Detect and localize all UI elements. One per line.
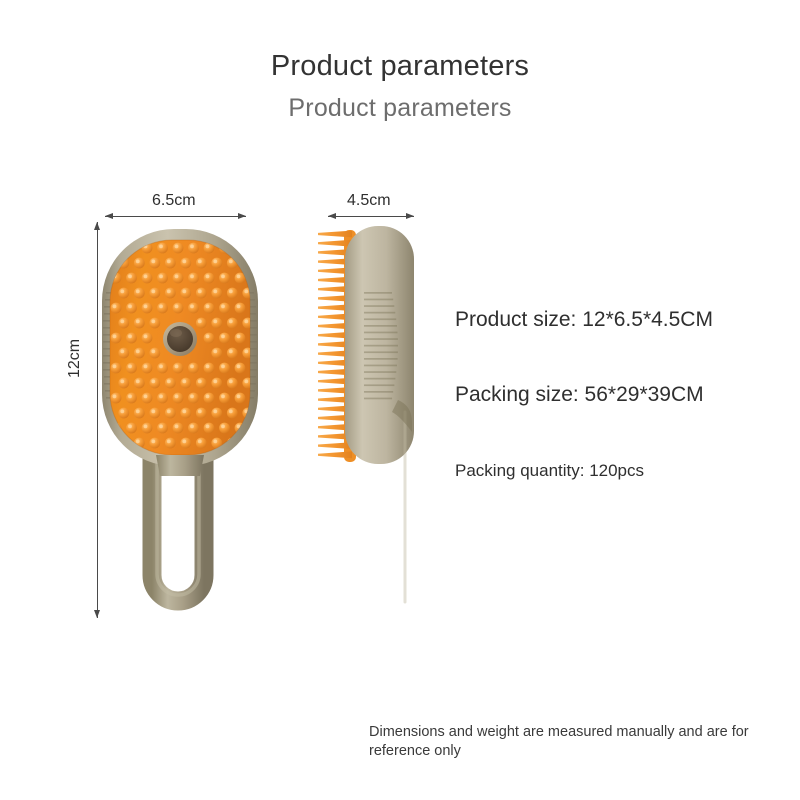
dimension-arrow-front-right xyxy=(238,213,246,219)
spec-packing-size: Packing size: 56*29*39CM xyxy=(455,383,704,407)
spec-product-size: Product size: 12*6.5*4.5CM xyxy=(455,308,713,332)
front-neck xyxy=(156,455,204,476)
product-parameters-diagram: Product parameters Product parameters xyxy=(0,0,800,800)
dimension-line-height xyxy=(97,222,98,618)
dimension-line-width-side xyxy=(328,216,414,217)
dimension-line-width-front xyxy=(105,216,246,217)
spec-packing-quantity: Packing quantity: 120pcs xyxy=(455,461,644,481)
dimension-label-height: 12cm xyxy=(66,339,84,378)
front-center-hole xyxy=(167,326,193,352)
dimension-arrow-side-right xyxy=(406,213,414,219)
dimension-label-width-side: 4.5cm xyxy=(347,192,391,210)
dimension-label-width-front: 6.5cm xyxy=(152,192,196,210)
front-center-hole-highlight xyxy=(170,329,182,337)
side-view-group xyxy=(318,226,414,610)
dimension-arrow-front-left xyxy=(105,213,113,219)
front-view-group xyxy=(102,229,258,601)
dimension-arrow-height-top xyxy=(94,222,100,230)
dimension-arrow-side-left xyxy=(328,213,336,219)
dimension-arrow-height-bottom xyxy=(94,610,100,618)
measurement-disclaimer: Dimensions and weight are measured manua… xyxy=(369,723,779,761)
